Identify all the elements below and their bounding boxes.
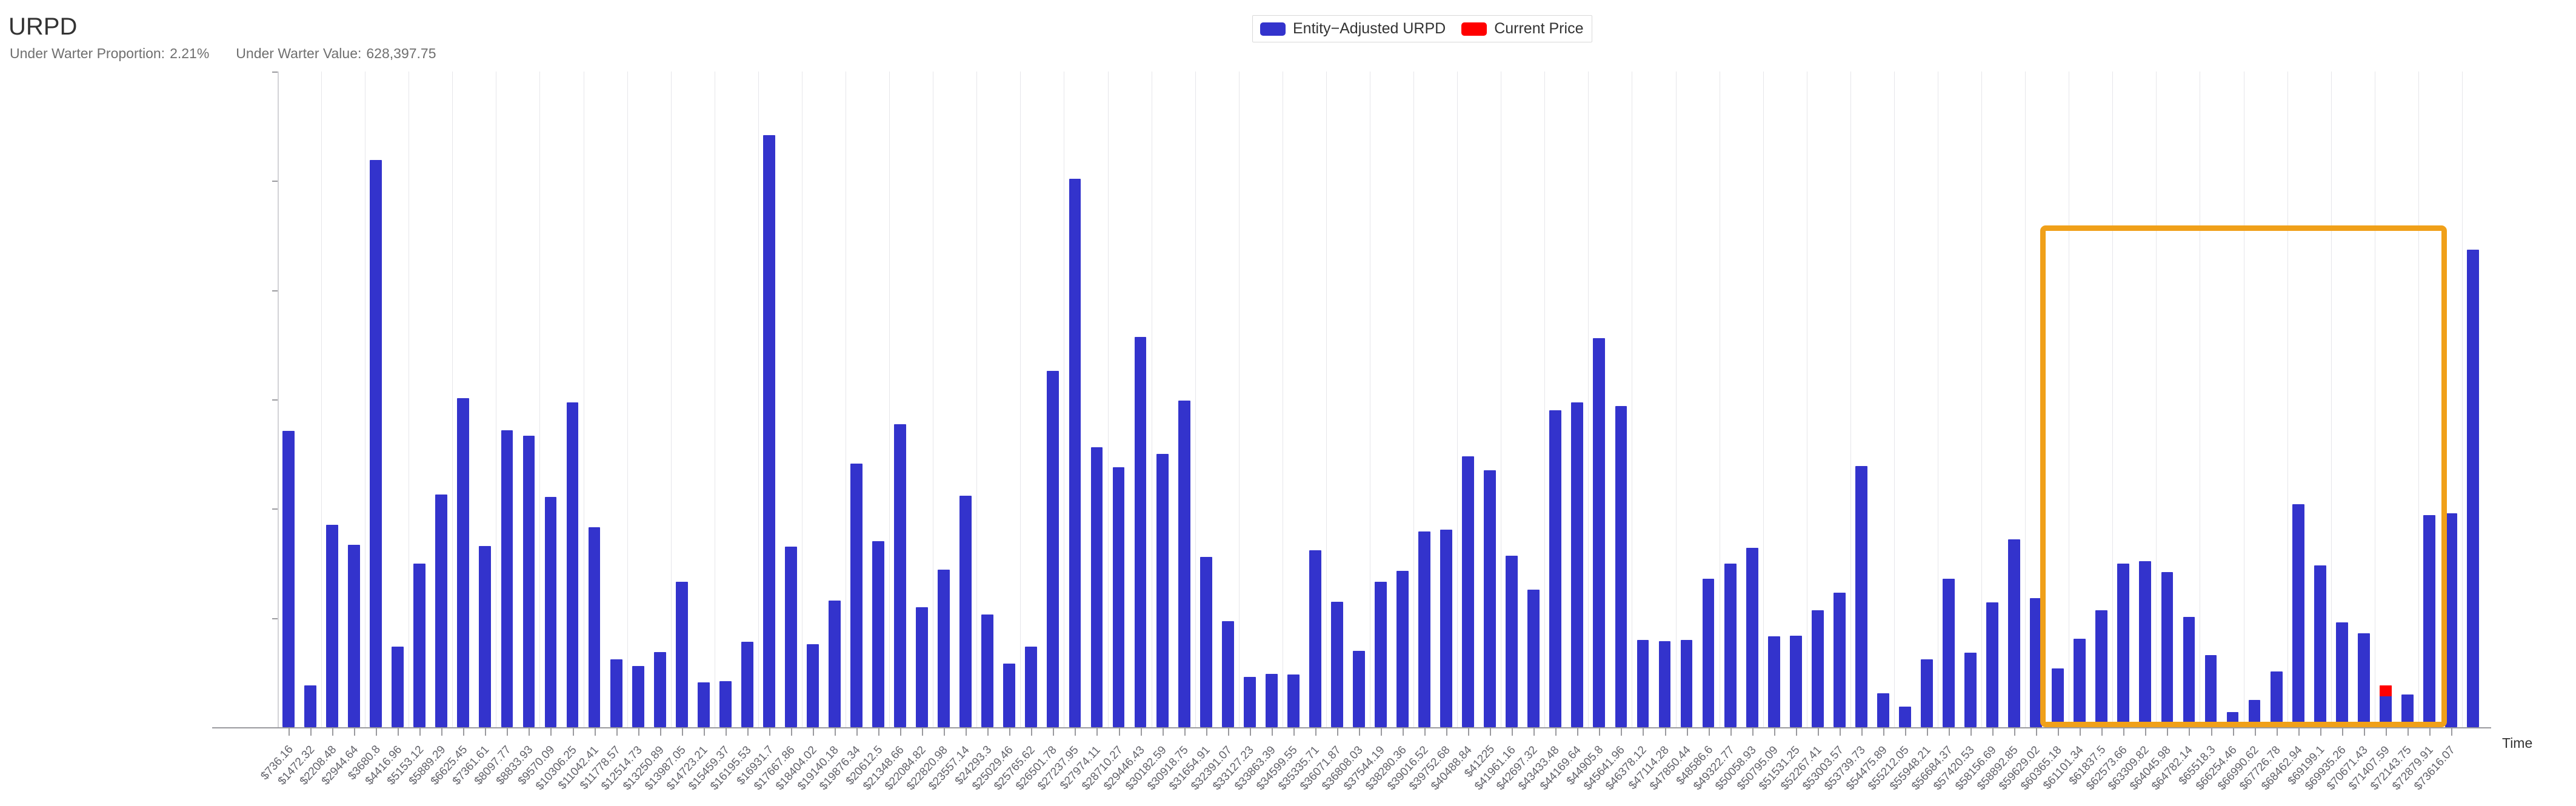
bar[interactable] bbox=[2205, 655, 2217, 727]
x-axis-tick-mark bbox=[463, 728, 464, 736]
x-axis-tick-mark bbox=[660, 728, 661, 736]
gridline-vertical bbox=[1195, 72, 1196, 727]
x-axis-tick-mark bbox=[1796, 728, 1797, 736]
x-axis-tick-mark bbox=[2167, 728, 2168, 736]
bar[interactable] bbox=[1877, 693, 1889, 727]
x-axis-tick-mark bbox=[856, 728, 858, 736]
bar[interactable] bbox=[1200, 557, 1212, 727]
bar[interactable] bbox=[1156, 454, 1169, 727]
legend-label-current-price: Current Price bbox=[1494, 20, 1583, 38]
gridline-vertical bbox=[2025, 72, 2026, 727]
x-axis-tick-mark bbox=[638, 728, 639, 736]
x-axis-tick-mark bbox=[2364, 728, 2365, 736]
x-axis-tick-mark bbox=[682, 728, 683, 736]
x-axis-tick-mark bbox=[573, 728, 574, 736]
gridline-vertical bbox=[584, 72, 584, 727]
x-axis-tick-mark bbox=[1228, 728, 1229, 736]
x-axis-tick-mark bbox=[2386, 728, 2387, 736]
bar[interactable] bbox=[981, 614, 993, 727]
bar[interactable] bbox=[872, 541, 884, 727]
bar[interactable] bbox=[1440, 530, 1452, 727]
gridline-vertical bbox=[539, 72, 540, 727]
bar[interactable] bbox=[2030, 598, 2042, 727]
x-axis-tick-mark bbox=[2189, 728, 2190, 736]
bar[interactable] bbox=[1812, 610, 1824, 727]
x-axis-tick-mark bbox=[1490, 728, 1491, 736]
bar[interactable] bbox=[1637, 640, 1649, 727]
x-axis-tick-mark bbox=[1555, 728, 1557, 736]
x-axis-tick-mark bbox=[1992, 728, 1994, 736]
gridline-vertical bbox=[1763, 72, 1764, 727]
gridline-vertical bbox=[1850, 72, 1851, 727]
bar[interactable] bbox=[719, 681, 732, 727]
stat-value: 2.21% bbox=[170, 45, 209, 62]
bar[interactable] bbox=[1986, 602, 1998, 727]
x-axis-tick-mark bbox=[507, 728, 508, 736]
x-axis-tick-mark bbox=[835, 728, 836, 736]
x-axis-tick-mark bbox=[1096, 728, 1098, 736]
bar[interactable] bbox=[1549, 410, 1561, 727]
bar[interactable] bbox=[916, 607, 928, 727]
x-axis-tick-mark bbox=[2014, 728, 2015, 736]
gridline-vertical bbox=[1938, 72, 1938, 727]
x-axis-tick-mark bbox=[310, 728, 312, 736]
x-axis-tick-mark bbox=[1075, 728, 1076, 736]
x-axis-tick-mark bbox=[1577, 728, 1578, 736]
bar[interactable] bbox=[326, 525, 338, 727]
summary-stats: Under Warter Proportion: 2.21% Under War… bbox=[10, 45, 436, 62]
bar[interactable] bbox=[2467, 250, 2479, 727]
bar[interactable] bbox=[1266, 674, 1278, 727]
x-axis-tick-mark bbox=[289, 728, 290, 736]
x-axis-tick-mark bbox=[2320, 728, 2321, 736]
x-axis-tick-mark bbox=[726, 728, 727, 736]
bar[interactable] bbox=[1921, 659, 1933, 727]
gridline-vertical bbox=[2069, 72, 2069, 727]
bar[interactable] bbox=[1025, 647, 1037, 727]
x-axis-tick-mark bbox=[1840, 728, 1841, 736]
gridline-vertical bbox=[1457, 72, 1458, 727]
x-axis-tick-mark bbox=[1206, 728, 1207, 736]
x-axis-tick-mark bbox=[2342, 728, 2343, 736]
x-axis-tick-mark bbox=[1599, 728, 1600, 736]
x-axis-tick-mark bbox=[1424, 728, 1426, 736]
gridline-vertical bbox=[1720, 72, 1720, 727]
x-axis-tick-mark bbox=[1381, 728, 1382, 736]
bar[interactable] bbox=[304, 685, 316, 727]
x-axis-tick-mark bbox=[1446, 728, 1447, 736]
plot-area bbox=[278, 72, 2484, 727]
x-axis-tick-mark bbox=[1337, 728, 1338, 736]
x-axis-tick-mark bbox=[1533, 728, 1535, 736]
x-axis-tick-mark bbox=[2277, 728, 2278, 736]
x-axis-tick-mark bbox=[1053, 728, 1054, 736]
y-axis-line bbox=[278, 72, 279, 727]
bar[interactable] bbox=[1113, 467, 1125, 727]
bar[interactable] bbox=[785, 547, 797, 727]
x-axis-tick-mark bbox=[1512, 728, 1513, 736]
y-axis-tick-mark bbox=[272, 72, 278, 73]
gridline-vertical bbox=[758, 72, 759, 727]
bar[interactable] bbox=[1331, 602, 1343, 727]
bar[interactable] bbox=[2249, 700, 2261, 727]
x-axis-tick-mark bbox=[1665, 728, 1666, 736]
bar[interactable] bbox=[959, 496, 972, 727]
bar[interactable] bbox=[1506, 556, 1518, 727]
gridline-vertical bbox=[1588, 72, 1589, 727]
bar[interactable] bbox=[2292, 504, 2304, 727]
x-axis-tick-mark bbox=[2451, 728, 2452, 736]
stat-label: Under Warter Value: bbox=[236, 45, 361, 62]
gridline-vertical bbox=[2112, 72, 2113, 727]
legend-item-current-price[interactable]: Current Price bbox=[1461, 20, 1583, 38]
stat-under-water-value: Under Warter Value: 628,397.75 bbox=[236, 45, 436, 62]
gridline-vertical bbox=[1676, 72, 1677, 727]
bar[interactable] bbox=[1287, 674, 1300, 727]
x-axis-tick-mark bbox=[1970, 728, 1972, 736]
x-axis-tick-mark bbox=[1621, 728, 1622, 736]
gridline-vertical bbox=[452, 72, 453, 727]
x-axis-tick-mark bbox=[1184, 728, 1186, 736]
bar[interactable] bbox=[763, 135, 775, 727]
gridline-vertical bbox=[933, 72, 933, 727]
legend-swatch-red bbox=[1461, 22, 1487, 36]
bar[interactable] bbox=[457, 398, 469, 727]
x-axis-tick-mark bbox=[704, 728, 705, 736]
gridline-vertical bbox=[889, 72, 890, 727]
gridline-vertical bbox=[2287, 72, 2288, 727]
bar[interactable] bbox=[1703, 579, 1715, 727]
x-axis-tick-mark bbox=[419, 728, 421, 736]
bar[interactable] bbox=[807, 644, 819, 727]
legend-swatch-blue bbox=[1260, 22, 1286, 36]
bar[interactable] bbox=[1527, 590, 1540, 727]
x-axis-tick-mark bbox=[1315, 728, 1316, 736]
x-axis-tick-mark bbox=[2101, 728, 2103, 736]
x-axis-tick-mark bbox=[550, 728, 552, 736]
bar[interactable] bbox=[1943, 579, 1955, 727]
bar[interactable] bbox=[1964, 653, 1977, 727]
bar[interactable] bbox=[2423, 515, 2435, 727]
gridline-vertical bbox=[409, 72, 409, 727]
x-axis-tick-mark bbox=[1774, 728, 1775, 736]
x-axis-tick-mark bbox=[2233, 728, 2234, 736]
x-axis-tick-mark bbox=[1163, 728, 1164, 736]
gridline-vertical bbox=[1239, 72, 1240, 727]
bar[interactable] bbox=[348, 545, 360, 727]
current-price-marker bbox=[2380, 685, 2392, 696]
bar[interactable] bbox=[1484, 470, 1496, 727]
bar[interactable] bbox=[2401, 694, 2414, 727]
bar[interactable] bbox=[1135, 337, 1147, 727]
x-axis-tick-mark bbox=[813, 728, 814, 736]
y-axis-tick-mark bbox=[272, 399, 278, 401]
stat-under-water-proportion: Under Warter Proportion: 2.21% bbox=[10, 45, 209, 62]
bar[interactable] bbox=[1855, 466, 1867, 727]
gridline-vertical bbox=[2244, 72, 2244, 727]
x-axis-tick-mark bbox=[769, 728, 770, 736]
bar[interactable] bbox=[567, 402, 579, 727]
bar[interactable] bbox=[1746, 548, 1758, 727]
bar[interactable] bbox=[413, 564, 425, 728]
gridline-vertical bbox=[2462, 72, 2463, 727]
bar[interactable] bbox=[1353, 651, 1365, 727]
bar[interactable] bbox=[894, 424, 906, 727]
y-axis-tick-mark bbox=[272, 618, 278, 619]
x-axis-tick-mark bbox=[595, 728, 596, 736]
x-axis-tick-mark bbox=[441, 728, 442, 736]
x-axis-tick-mark bbox=[1359, 728, 1360, 736]
bar[interactable] bbox=[610, 659, 622, 727]
x-axis-tick-mark bbox=[944, 728, 945, 736]
x-axis-tick-mark bbox=[2058, 728, 2059, 736]
bar[interactable] bbox=[589, 527, 601, 727]
bar[interactable] bbox=[370, 160, 382, 727]
x-axis-tick-mark bbox=[1468, 728, 1469, 736]
x-axis-tick-mark bbox=[1927, 728, 1928, 736]
x-axis-tick-mark bbox=[966, 728, 967, 736]
bar[interactable] bbox=[1375, 582, 1387, 727]
x-axis-tick-mark bbox=[1293, 728, 1295, 736]
gridline-vertical bbox=[1326, 72, 1327, 727]
y-axis-tick-mark bbox=[272, 290, 278, 291]
gridline-vertical bbox=[1108, 72, 1109, 727]
x-axis-tick-mark bbox=[1031, 728, 1032, 736]
gridline-vertical bbox=[1370, 72, 1370, 727]
bar[interactable] bbox=[1003, 664, 1015, 727]
bar[interactable] bbox=[392, 647, 404, 727]
x-axis-tick-mark bbox=[1643, 728, 1644, 736]
bar[interactable] bbox=[654, 652, 666, 727]
x-axis-title: Time bbox=[2502, 735, 2532, 751]
bar[interactable] bbox=[741, 642, 753, 727]
bar[interactable] bbox=[1091, 447, 1103, 727]
gridline-vertical bbox=[2418, 72, 2419, 727]
gridline-vertical bbox=[1152, 72, 1152, 727]
x-axis-tick-mark bbox=[332, 728, 333, 736]
gridline-vertical bbox=[671, 72, 672, 727]
gridline-vertical bbox=[802, 72, 802, 727]
gridline-vertical bbox=[365, 72, 365, 727]
x-axis-tick-mark bbox=[2123, 728, 2124, 736]
x-axis-tick-mark bbox=[922, 728, 923, 736]
x-axis-tick-mark bbox=[1709, 728, 1710, 736]
x-axis-tick-mark bbox=[1818, 728, 1819, 736]
bar[interactable] bbox=[435, 495, 447, 727]
x-axis-tick-mark bbox=[2407, 728, 2409, 736]
x-axis-line bbox=[212, 727, 2491, 728]
bar[interactable] bbox=[1309, 550, 1321, 727]
gridline-vertical bbox=[2200, 72, 2200, 727]
gridline-vertical bbox=[846, 72, 846, 727]
bar[interactable] bbox=[1899, 707, 1911, 727]
bar[interactable] bbox=[1178, 401, 1190, 727]
bar[interactable] bbox=[2008, 539, 2020, 727]
x-axis-tick-mark bbox=[1905, 728, 1906, 736]
bar[interactable] bbox=[1069, 179, 1081, 727]
x-axis-tick-mark bbox=[1272, 728, 1273, 736]
x-axis-tick-mark bbox=[747, 728, 749, 736]
gridline-vertical bbox=[321, 72, 322, 727]
bar[interactable] bbox=[829, 601, 841, 727]
x-axis-tick-mark bbox=[791, 728, 792, 736]
bar[interactable] bbox=[2139, 561, 2151, 727]
x-axis-tick-mark bbox=[878, 728, 879, 736]
bar[interactable] bbox=[2095, 610, 2107, 727]
stat-value: 628,397.75 bbox=[366, 45, 436, 62]
x-axis-tick-mark bbox=[616, 728, 618, 736]
page-title: URPD bbox=[8, 13, 77, 41]
bar[interactable] bbox=[938, 570, 950, 727]
gridline-vertical bbox=[1894, 72, 1895, 727]
bar[interactable] bbox=[1244, 677, 1256, 727]
gridline-vertical bbox=[1064, 72, 1064, 727]
x-axis-tick-mark bbox=[2255, 728, 2256, 736]
bar[interactable] bbox=[2445, 513, 2457, 727]
bar[interactable] bbox=[2314, 565, 2326, 727]
bar[interactable] bbox=[2074, 639, 2086, 727]
bar[interactable] bbox=[1418, 531, 1430, 727]
gridline-vertical bbox=[2156, 72, 2157, 727]
x-axis-tick-mark bbox=[485, 728, 486, 736]
bar[interactable] bbox=[1593, 338, 1605, 727]
bar[interactable] bbox=[1571, 402, 1583, 727]
gridline-vertical bbox=[1807, 72, 1807, 727]
bar[interactable] bbox=[698, 682, 710, 727]
x-axis-tick-mark bbox=[2429, 728, 2431, 736]
x-axis-tick-mark bbox=[1883, 728, 1884, 736]
bar[interactable] bbox=[2052, 668, 2064, 727]
bar[interactable] bbox=[2358, 633, 2370, 727]
gridline-vertical bbox=[1283, 72, 1283, 727]
gridline-vertical bbox=[1544, 72, 1545, 727]
bar[interactable] bbox=[1047, 371, 1059, 727]
bar[interactable] bbox=[545, 497, 557, 728]
gridline-vertical bbox=[1632, 72, 1632, 727]
bar[interactable] bbox=[501, 430, 513, 728]
gridline-vertical bbox=[1501, 72, 1501, 727]
legend-label-entity-adjusted-urpd: Entity−Adjusted URPD bbox=[1293, 20, 1446, 38]
bar[interactable] bbox=[1659, 641, 1671, 727]
x-axis-tick-mark bbox=[2080, 728, 2081, 736]
y-axis-tick-mark bbox=[272, 181, 278, 182]
bar[interactable] bbox=[1462, 456, 1474, 727]
gridline-vertical bbox=[1020, 72, 1021, 727]
stat-label: Under Warter Proportion: bbox=[10, 45, 165, 62]
x-axis-tick-mark bbox=[2298, 728, 2300, 736]
gridline-vertical bbox=[2331, 72, 2332, 727]
x-axis-tick-mark bbox=[2036, 728, 2037, 736]
bar[interactable] bbox=[1222, 621, 1234, 727]
x-axis-tick-mark bbox=[376, 728, 377, 736]
x-axis-tick-mark bbox=[1949, 728, 1950, 736]
y-axis-tick-mark bbox=[272, 508, 278, 510]
x-axis-tick-mark bbox=[1752, 728, 1753, 736]
gridline-vertical bbox=[1413, 72, 1414, 727]
bar[interactable] bbox=[2161, 572, 2174, 727]
bar[interactable] bbox=[632, 666, 644, 727]
bar[interactable] bbox=[1615, 406, 1627, 727]
x-axis-tick-mark bbox=[1687, 728, 1688, 736]
bar[interactable] bbox=[523, 436, 535, 727]
x-axis-tick-mark bbox=[1009, 728, 1010, 736]
x-axis-tick-mark bbox=[398, 728, 399, 736]
x-axis-tick-mark bbox=[1141, 728, 1142, 736]
bar[interactable] bbox=[2183, 617, 2195, 727]
gridline-vertical bbox=[715, 72, 715, 727]
x-axis-tick-mark bbox=[900, 728, 901, 736]
urpd-chart-page: URPD Under Warter Proportion: 2.21% Unde… bbox=[0, 0, 2576, 806]
x-axis-tick-mark bbox=[1250, 728, 1251, 736]
x-axis-tick-mark bbox=[987, 728, 989, 736]
bar[interactable] bbox=[2227, 712, 2239, 727]
bar[interactable] bbox=[676, 582, 688, 727]
gridline-vertical bbox=[2375, 72, 2375, 727]
bar[interactable] bbox=[2117, 564, 2129, 728]
x-axis-tick-mark bbox=[2211, 728, 2212, 736]
bar[interactable] bbox=[479, 546, 491, 727]
chart-legend[interactable]: Entity−Adjusted URPD Current Price bbox=[1252, 15, 1592, 42]
x-axis-tick-mark bbox=[2145, 728, 2146, 736]
bar[interactable] bbox=[2336, 622, 2348, 727]
x-axis-tick-mark bbox=[1730, 728, 1732, 736]
gridline-vertical bbox=[496, 72, 496, 727]
gridline-vertical bbox=[976, 72, 977, 727]
bar[interactable] bbox=[1834, 593, 1846, 727]
bar[interactable] bbox=[2271, 671, 2283, 727]
x-axis-tick-mark bbox=[1861, 728, 1863, 736]
bar[interactable] bbox=[1681, 640, 1693, 727]
gridline-vertical bbox=[627, 72, 628, 727]
bar[interactable] bbox=[850, 464, 863, 727]
legend-item-entity-adjusted-urpd[interactable]: Entity−Adjusted URPD bbox=[1260, 20, 1446, 38]
bar[interactable] bbox=[1790, 636, 1802, 727]
x-axis-tick-mark bbox=[529, 728, 530, 736]
bar[interactable] bbox=[1724, 564, 1737, 728]
x-axis-tick-mark bbox=[1403, 728, 1404, 736]
bar[interactable] bbox=[1768, 636, 1780, 727]
x-axis-tick-mark bbox=[354, 728, 355, 736]
bar[interactable] bbox=[282, 431, 295, 727]
gridline-vertical bbox=[1981, 72, 1982, 727]
x-axis-tick-mark bbox=[1119, 728, 1120, 736]
bar[interactable] bbox=[1396, 571, 1409, 727]
